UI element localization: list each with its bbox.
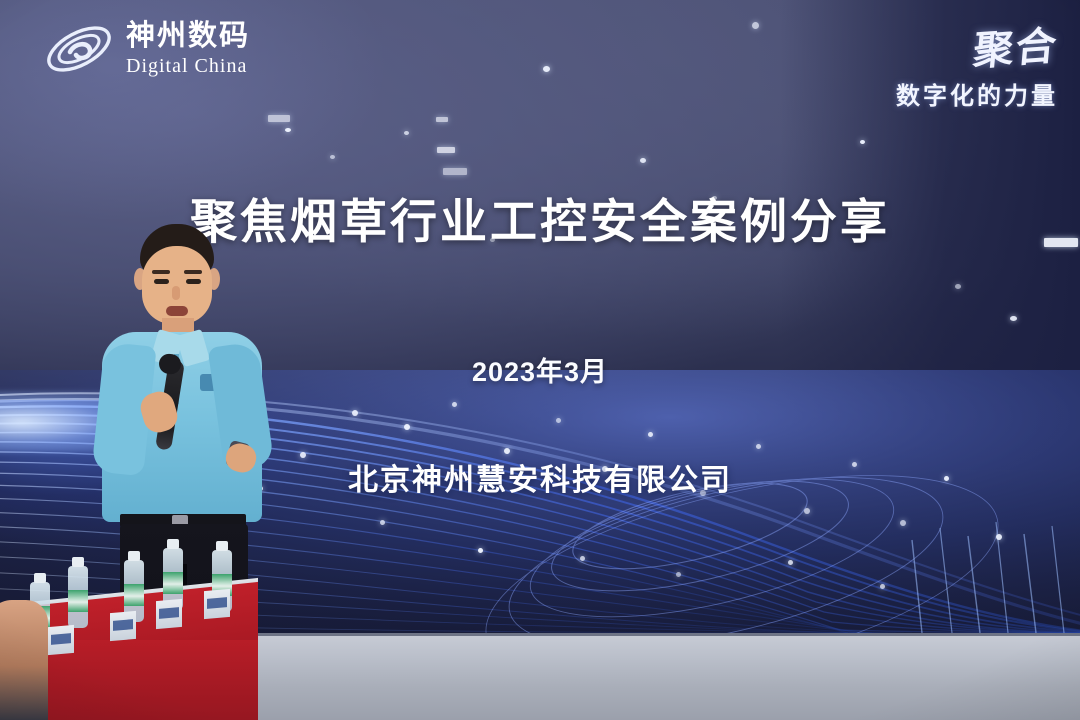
speaker-eye-right — [186, 279, 201, 284]
bottle-cap — [216, 541, 228, 551]
light-dot-particle — [352, 410, 358, 416]
light-dot-particle — [648, 432, 653, 437]
event-logo-tagline: 数字化的力量 — [896, 76, 1058, 111]
event-logo: 聚合 数字化的力量 — [896, 16, 1058, 111]
speaker-presenter — [96, 224, 274, 624]
light-dot-particle — [404, 424, 410, 430]
bottle-cap — [128, 551, 140, 561]
light-dot-particle — [640, 158, 646, 163]
light-dash-particle — [268, 115, 290, 122]
speaker-mouth — [166, 306, 188, 316]
light-dash-particle — [436, 117, 448, 122]
bottle-cap — [34, 573, 46, 583]
light-dot-particle — [504, 448, 510, 454]
name-card — [48, 625, 74, 655]
light-dot-particle — [860, 140, 865, 144]
light-dot-particle — [752, 22, 759, 29]
light-dot-particle — [330, 155, 335, 159]
light-dot-particle — [556, 418, 561, 423]
bottle-label — [163, 572, 183, 594]
swirl-galaxy-icon — [42, 18, 116, 80]
light-dot-particle — [478, 548, 483, 553]
light-dot-particle — [788, 560, 793, 565]
name-card — [110, 611, 136, 641]
light-dash-particle — [437, 147, 455, 153]
light-dot-particle — [756, 444, 761, 449]
event-logo-calligraphy: 聚合 — [971, 13, 1061, 77]
light-dot-particle — [1010, 316, 1017, 321]
light-dot-particle — [996, 534, 1002, 540]
light-dot-particle — [880, 584, 885, 589]
water-bottle — [68, 566, 88, 628]
name-card-strip — [113, 619, 133, 631]
light-dot-particle — [452, 402, 457, 407]
name-card-strip — [51, 633, 71, 645]
light-dot-particle — [404, 131, 409, 135]
light-dot-particle — [804, 508, 810, 514]
name-card-strip — [207, 597, 227, 609]
bottle-label — [124, 584, 144, 606]
light-dot-particle — [285, 128, 291, 132]
brand-name-en: Digital China — [126, 56, 250, 76]
brand-name-cn: 神州数码 — [126, 22, 250, 51]
bottle-cap — [72, 557, 84, 567]
brand-logo-digital-china: 神州数码 Digital China — [42, 18, 250, 80]
speaker-nose — [172, 286, 180, 300]
light-dot-particle — [580, 556, 585, 561]
speaker-eyebrow-right — [184, 270, 202, 274]
speaker-eye-left — [154, 279, 169, 284]
bottle-cap — [167, 539, 179, 549]
light-dash-particle — [443, 168, 467, 175]
bottle-label — [68, 590, 88, 612]
conference-stage-photo: 神州数码 Digital China 聚合 数字化的力量 聚焦烟草行业工控安全案… — [0, 0, 1080, 720]
light-dot-particle — [955, 284, 961, 289]
light-dot-particle — [380, 520, 385, 525]
name-card — [156, 599, 182, 629]
light-dot-particle — [900, 520, 906, 526]
speaker-eyebrow-left — [152, 270, 170, 274]
name-card-strip — [159, 607, 179, 619]
light-dot-particle — [676, 572, 681, 577]
foreground-seated-attendee — [0, 600, 48, 720]
name-card — [204, 589, 230, 619]
light-dot-particle — [543, 66, 550, 72]
